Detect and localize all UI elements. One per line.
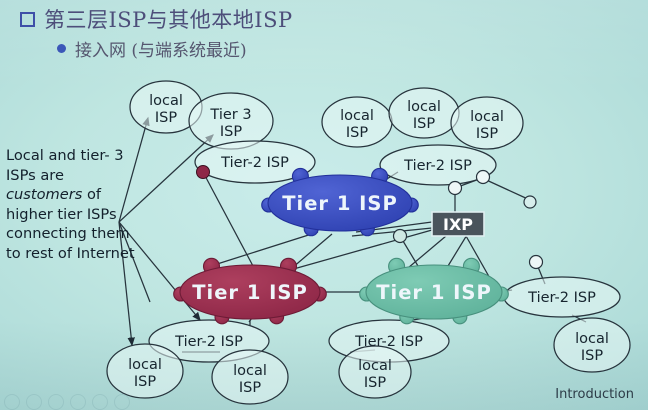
ghost-control-icon [114, 394, 130, 410]
dot-bullet-icon [57, 44, 66, 53]
header-subtitle: 接入网 (与端系统最近) [75, 36, 247, 61]
ghost-control-icon [92, 394, 108, 410]
label-tier2-isp-e: Tier-2 ISP [527, 290, 596, 306]
ghost-player-controls [4, 394, 130, 410]
diagram-links [119, 118, 586, 352]
ghost-control-icon [4, 394, 20, 410]
ghost-control-icon [26, 394, 42, 410]
slide-footer: Introduction [555, 387, 634, 402]
label-tier1-green: Tier 1 ISP [376, 281, 492, 304]
ixp-box: IXP [432, 212, 484, 236]
label-tier1-red: Tier 1 ISP [192, 281, 308, 304]
ghost-control-icon [70, 394, 86, 410]
slide-header: 第三层ISP与其他本地ISP 接入网 (与端系统最近) [0, 0, 648, 70]
slide-canvas: 第三层ISP与其他本地ISP 接入网 (与端系统最近) Local and ti… [0, 0, 648, 410]
label-tier2-isp-c: Tier-2 ISP [174, 334, 243, 350]
header-line-2: 接入网 (与端系统最近) [57, 36, 247, 61]
header-title: 第三层ISP与其他本地ISP [44, 4, 293, 34]
cloud-tier1-red: Tier 1 ISP [174, 258, 327, 323]
label-tier1-blue: Tier 1 ISP [282, 192, 398, 215]
header-line-1: 第三层ISP与其他本地ISP [20, 4, 293, 34]
note-segment-italic: customers [6, 186, 82, 203]
square-bullet-icon [20, 12, 35, 27]
label-tier2-isp-b: Tier-2 ISP [403, 158, 472, 174]
label-tier2-isp-d: Tier-2 ISP [354, 334, 423, 350]
ghost-control-icon [48, 394, 64, 410]
label-tier2-isp-a: Tier-2 ISP [220, 155, 289, 171]
diagram-ellipses [107, 81, 630, 404]
note-segment-1: Local and tier- 3 ISPs are [6, 147, 124, 184]
ixp-label: IXP [443, 215, 473, 234]
left-explanatory-note: Local and tier- 3 ISPs are customers of … [6, 146, 138, 264]
cloud-tier1-green: Tier 1 ISP [360, 258, 509, 323]
